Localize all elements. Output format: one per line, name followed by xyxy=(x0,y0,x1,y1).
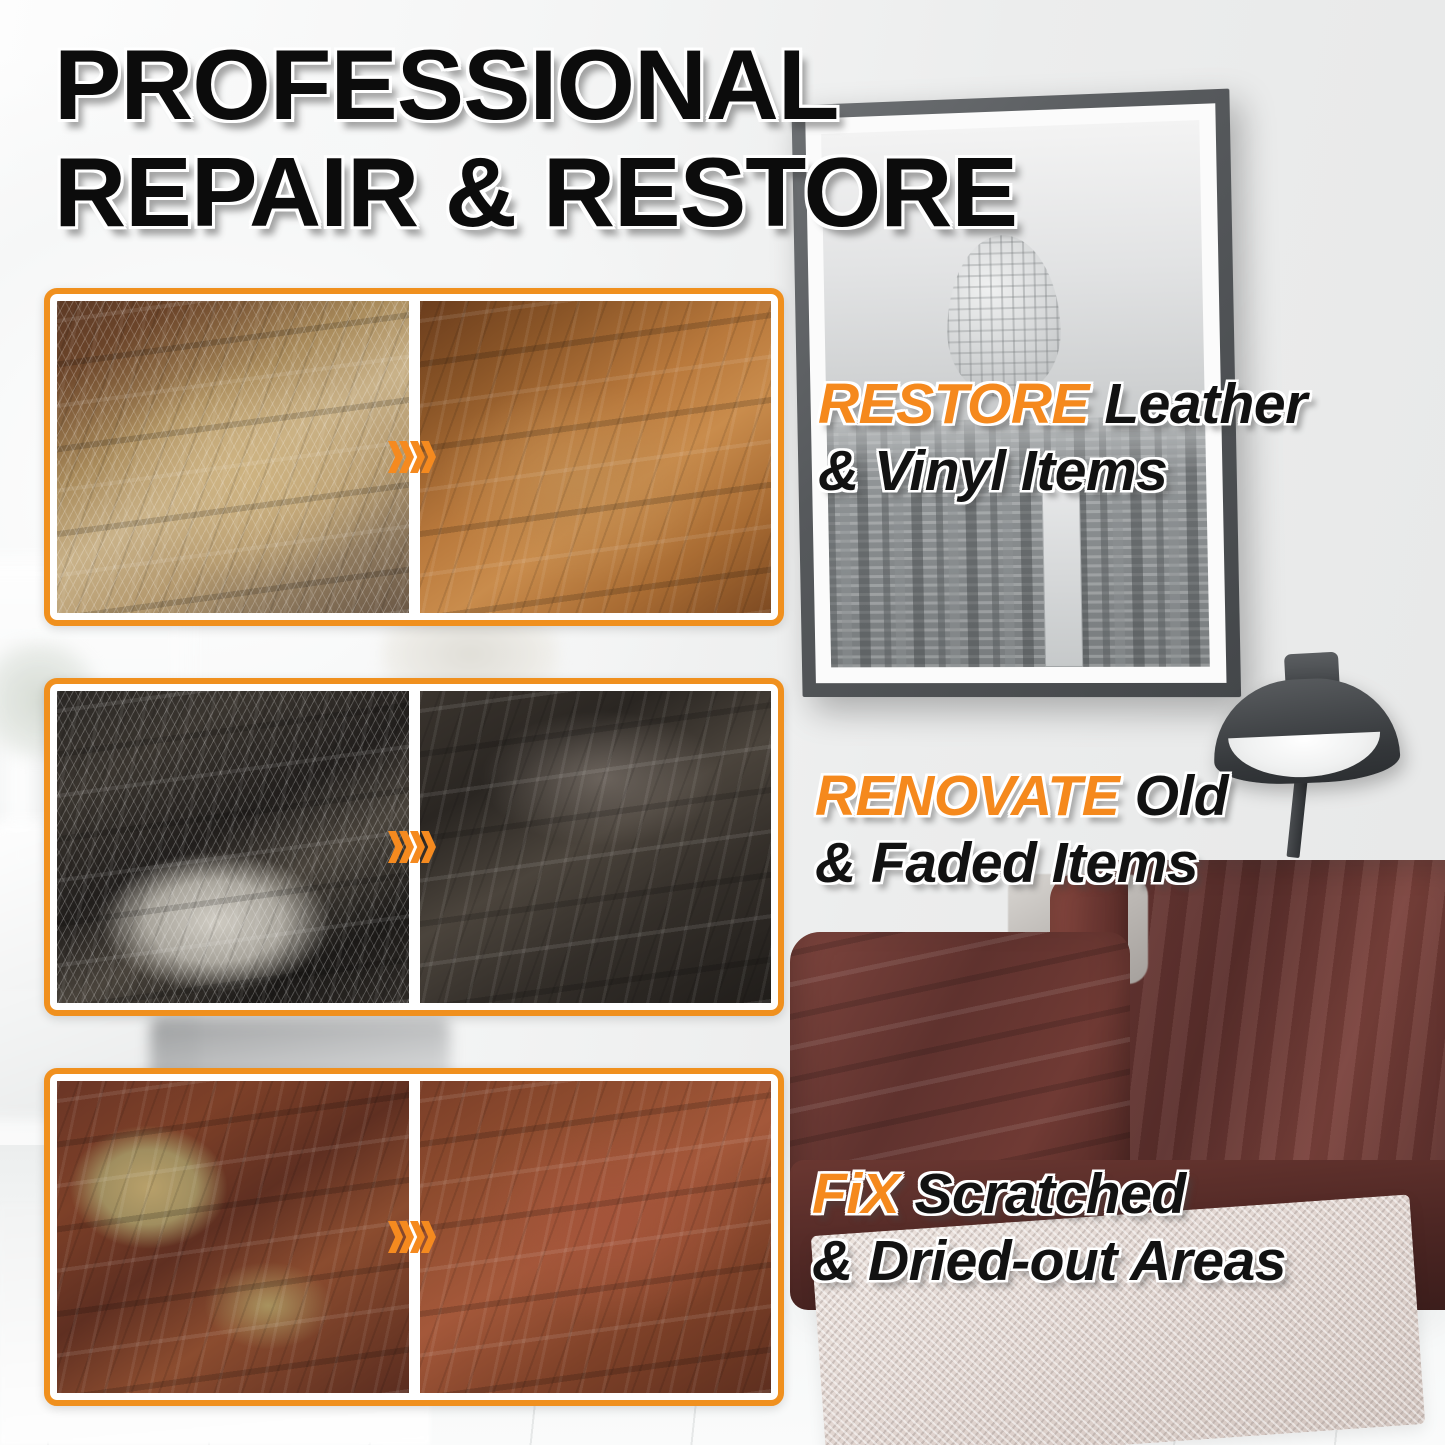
leather-creases xyxy=(420,691,772,1003)
feature-fix-line-2: & Dried-out Areas xyxy=(812,1231,1445,1291)
cracked-peeling-area xyxy=(57,691,409,1003)
comparison-panel-brown-sofa xyxy=(44,1068,784,1406)
after-image-brown-sofa xyxy=(420,1081,772,1393)
feature-restore: RESTORE Leather & Vinyl Items xyxy=(818,374,1445,502)
leather-creases xyxy=(420,301,772,613)
feature-restore-keyword: RESTORE xyxy=(818,372,1089,436)
feature-restore-line-1: RESTORE Leather xyxy=(818,374,1445,434)
after-image-tan-sofa xyxy=(420,301,772,613)
leather-creases xyxy=(420,1081,772,1393)
headline-line-2: REPAIR & RESTORE xyxy=(54,144,1196,241)
feature-fix-keyword: FiX xyxy=(812,1162,899,1226)
before-image-brown-sofa xyxy=(57,1081,409,1393)
product-marketing-image: PROFESSIONAL REPAIR & RESTORE xyxy=(0,0,1445,1445)
feature-fix: FiX Scratched & Dried-out Areas xyxy=(812,1164,1445,1292)
before-image-tan-sofa xyxy=(57,301,409,613)
feature-fix-line-1-rest: Scratched xyxy=(899,1162,1185,1226)
feature-renovate-keyword: RENOVATE xyxy=(815,764,1119,828)
page-title: PROFESSIONAL REPAIR & RESTORE xyxy=(54,36,1174,241)
tall-tower xyxy=(1041,483,1083,667)
feature-restore-line-2: & Vinyl Items xyxy=(818,441,1445,501)
feature-renovate-line-1: RENOVATE Old xyxy=(815,766,1445,826)
before-image-dark-recliner xyxy=(57,691,409,1003)
feature-renovate: RENOVATE Old & Faded Items xyxy=(815,766,1445,894)
leather-creases xyxy=(57,1081,409,1393)
headline-line-1: PROFESSIONAL xyxy=(54,36,1196,134)
comparison-panel-dark-recliner xyxy=(44,678,784,1016)
feature-fix-line-1: FiX Scratched xyxy=(812,1164,1445,1224)
wear-scuffs xyxy=(57,301,409,613)
after-image-dark-recliner xyxy=(420,691,772,1003)
feature-restore-line-1-rest: Leather xyxy=(1089,372,1307,436)
comparison-panel-tan-sofa xyxy=(44,288,784,626)
feature-renovate-line-2: & Faded Items xyxy=(815,833,1445,893)
feature-renovate-line-1-rest: Old xyxy=(1119,764,1228,828)
